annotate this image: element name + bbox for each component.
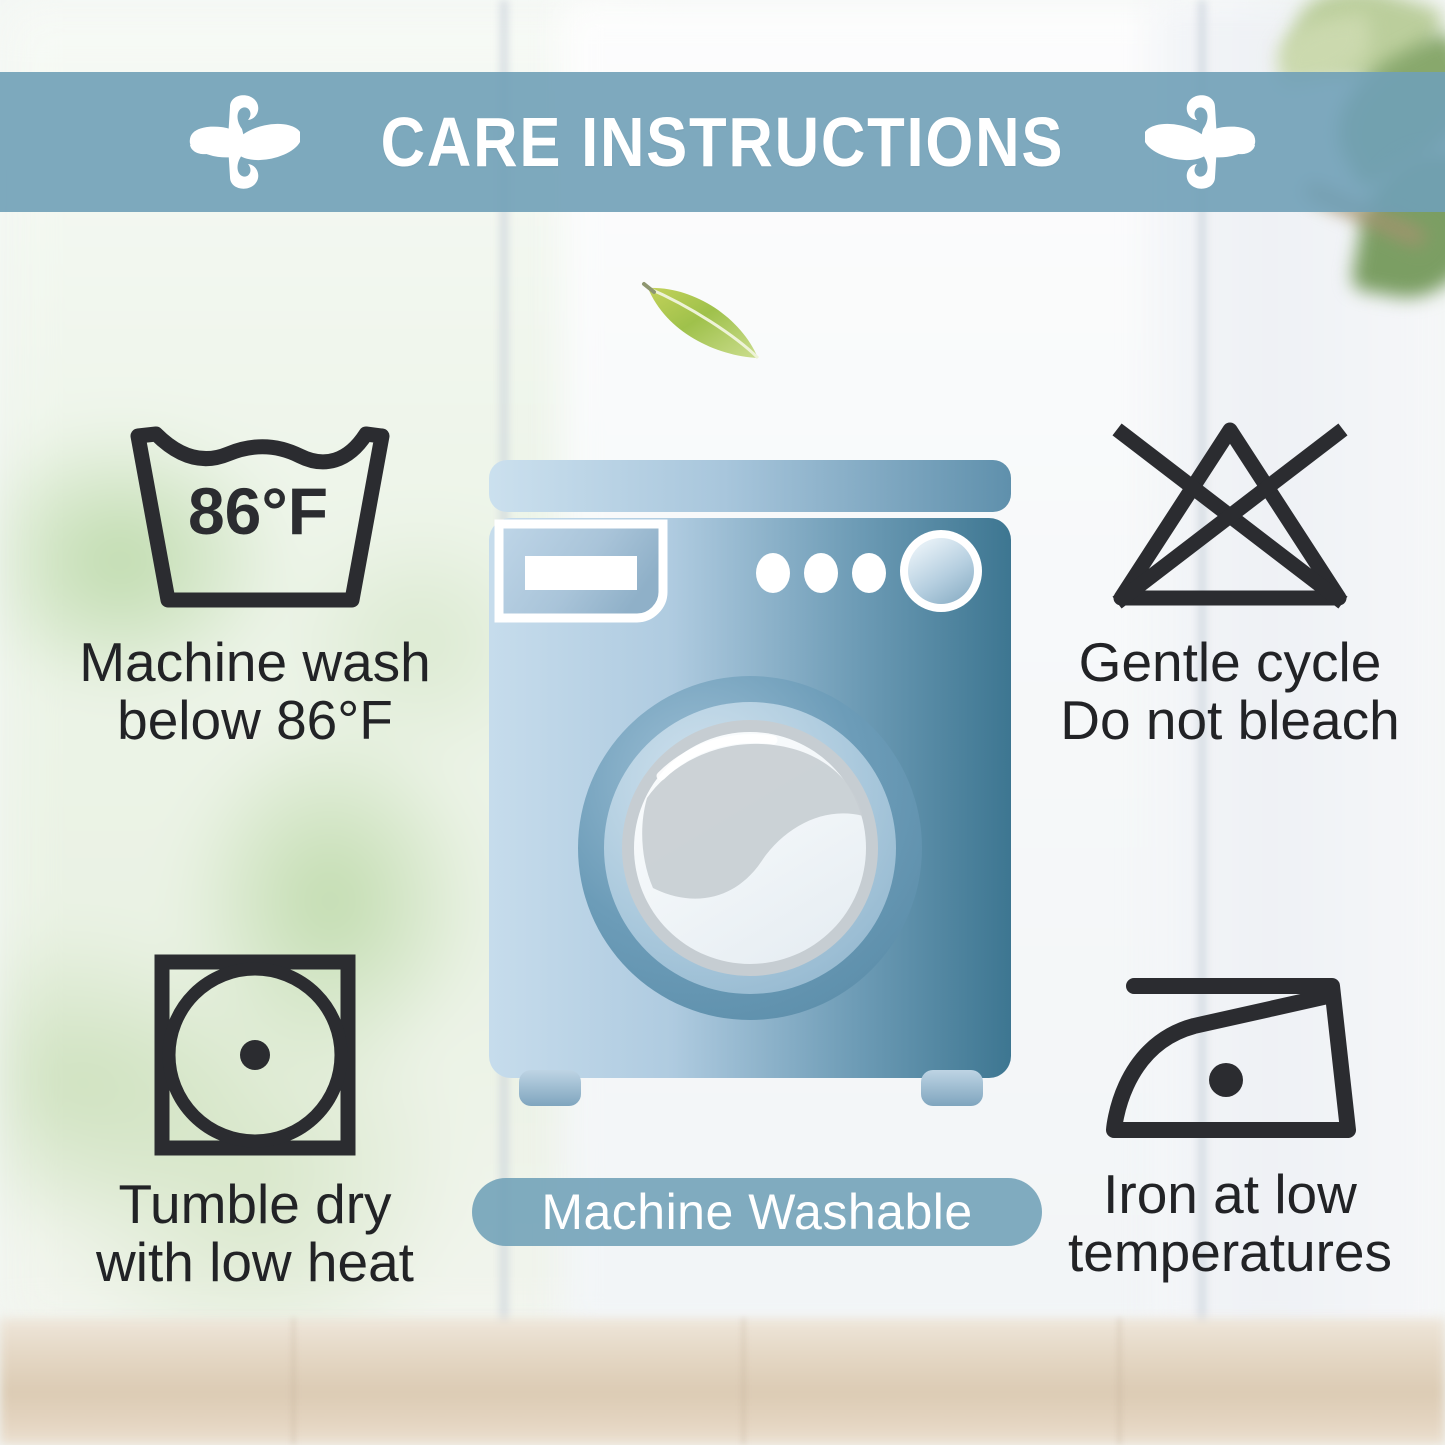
control-knob [908,538,974,604]
machine-top-lid [489,460,1011,512]
wash-temperature-value: 86°F [188,474,328,548]
care-symbol-caption: Tumble drywith low heat [96,1175,414,1292]
care-symbol-iron: Iron at lowtemperatures [1025,960,1435,1282]
machine-washable-badge: Machine Washable [472,1178,1042,1246]
do-not-bleach-triangle-icon [1095,408,1365,623]
iron-low-temperature-icon [1090,960,1370,1155]
care-symbol-caption: Iron at lowtemperatures [1068,1165,1392,1282]
caption-line-2: below 86°F [117,689,393,751]
caption-line-2: with low heat [96,1231,414,1293]
care-symbol-caption: Machine washbelow 86°F [79,633,431,750]
control-button [852,553,886,593]
caption-line-1: Machine wash [79,631,431,693]
tumble-dry-low-icon [150,950,360,1165]
care-symbol-tumble-dry: Tumble drywith low heat [55,950,455,1292]
wooden-table-surface [0,1318,1445,1445]
care-symbol-caption: Gentle cycleDo not bleach [1060,633,1399,750]
control-button [804,553,838,593]
caption-line-2: Do not bleach [1060,689,1399,751]
page-title: CARE INSTRUCTIONS [381,102,1065,182]
badge-label: Machine Washable [541,1183,972,1241]
machine-foot [519,1070,581,1106]
drawer-handle-slot [525,556,637,590]
care-instructions-infographic: CARE INSTRUCTIONS [0,0,1445,1445]
caption-line-2: temperatures [1068,1221,1392,1283]
caption-line-1: Iron at low [1103,1163,1357,1225]
control-button [756,553,790,593]
fleur-de-lis-icon [168,87,300,197]
caption-line-1: Tumble dry [118,1173,391,1235]
header-banner: CARE INSTRUCTIONS [0,72,1445,212]
care-symbol-do-not-bleach: Gentle cycleDo not bleach [1030,408,1430,750]
floating-leaf-icon [640,276,770,366]
wash-tub-icon: 86°F [120,418,390,623]
care-symbol-machine-wash: 86°F Machine washbelow 86°F [55,418,455,750]
caption-line-1: Gentle cycle [1079,631,1382,693]
machine-foot [921,1070,983,1106]
fleur-de-lis-icon [1145,87,1277,197]
wood-seam [742,1318,745,1445]
wood-seam [1118,1318,1121,1445]
wood-seam [292,1318,295,1445]
washing-machine-illustration [485,458,1015,1118]
